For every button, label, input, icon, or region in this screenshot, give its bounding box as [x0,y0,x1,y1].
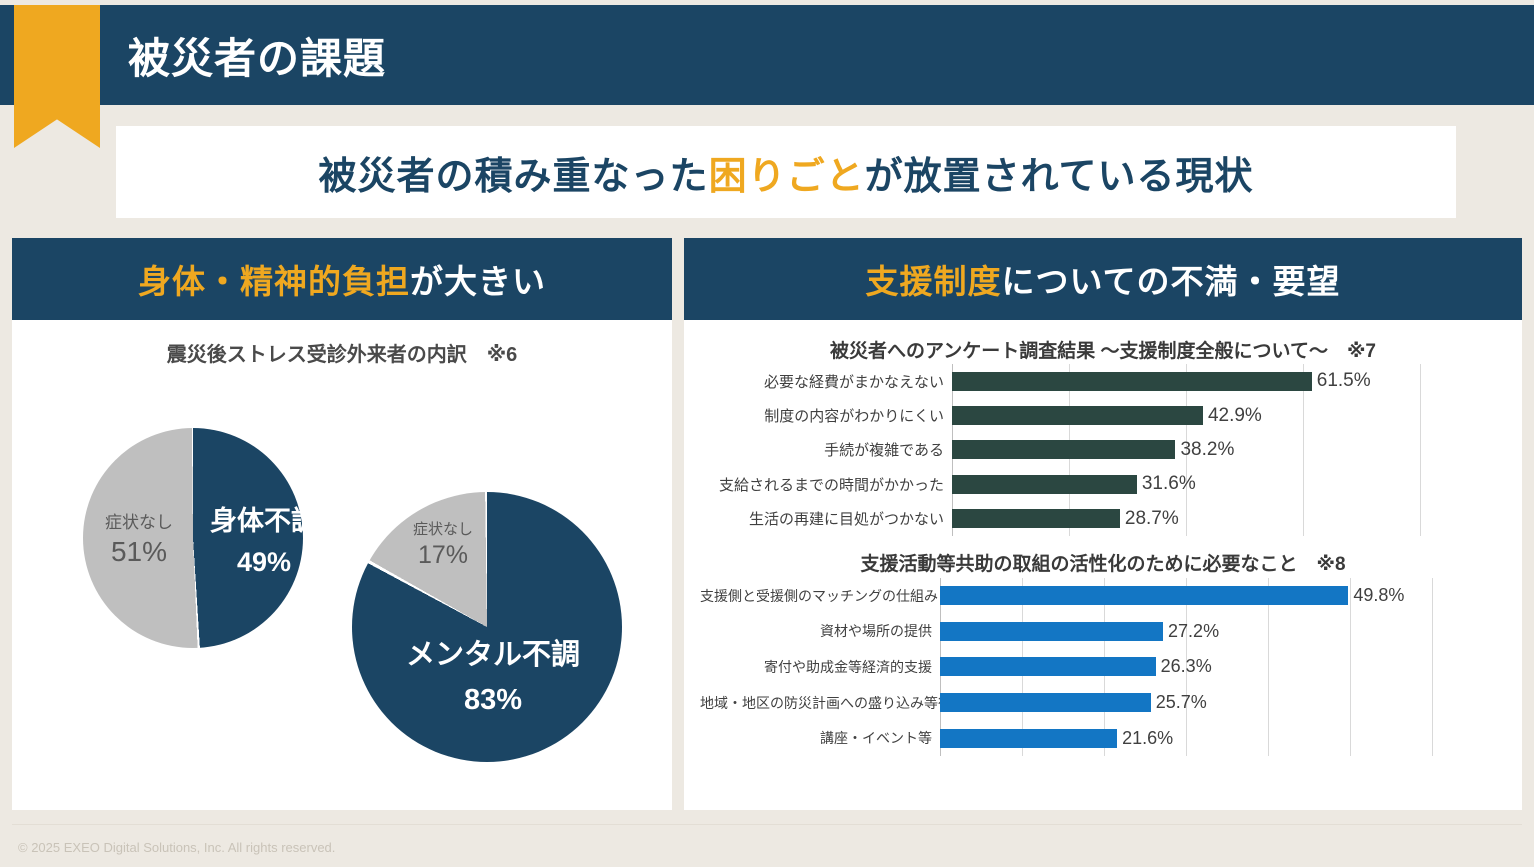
bar-value-label: 26.3% [1161,656,1212,677]
bar-category-label: 必要な経費がまかなえない [700,371,952,392]
bar-category-label: 制度の内容がわかりにくい [700,405,952,426]
bar-value-label: 28.7% [1125,508,1179,530]
bar-segment [952,509,1120,528]
pie-label-physical-none: 症状なし 51% [84,512,194,570]
bar-track: 27.2% [940,621,1510,642]
pie-slice-value: 17% [398,539,488,571]
bar-chart-kyojo-activation: 支援側と受援側のマッチングの仕組み49.8%資材や場所の提供27.2%寄付や助成… [700,578,1510,756]
bar-chart-support-system: 必要な経費がまかなえない61.5%制度の内容がわかりにくい42.9%手続が複雑で… [700,364,1510,536]
panel-left-rest: が大きい [410,263,546,300]
bar-row: 資材や場所の提供27.2% [700,614,1510,650]
bar-segment [952,475,1137,494]
bar-category-label: 講座・イベント等 [700,728,940,748]
footer-copyright: © 2025 EXEO Digital Solutions, Inc. All … [18,840,335,855]
bar-track: 26.3% [940,656,1510,677]
pie-slice-name: メンタル不調 [368,637,618,674]
bar-value-label: 49.8% [1353,585,1404,606]
bar-row: 支援側と受援側のマッチングの仕組み49.8% [700,578,1510,614]
bar-row: 支給されるまでの時間がかかった31.6% [700,467,1510,501]
bar-track: 25.7% [940,692,1510,713]
bar-category-label: 手続が複雑である [700,439,952,460]
bar-value-label: 42.9% [1208,405,1262,427]
pie-label-physical-symptom: 身体不調 49% [198,504,330,579]
bar-row: 生活の再建に目処がつかない28.7% [700,502,1510,536]
pie-slice-value: 51% [84,534,194,570]
panel-header-right-text: 支援制度についての不満・要望 [865,255,1340,303]
pie-label-mental-none: 症状なし 17% [398,520,488,571]
subtitle-part1: 被災者の積み重なった [319,156,709,198]
bar-track: 61.5% [952,370,1510,392]
subtitle-text: 被災者の積み重なった困りごとが放置されている現状 [319,145,1254,200]
bar-track: 28.7% [952,508,1510,530]
bar-category-label: 寄付や助成金等経済的支援 [700,657,940,677]
bar-segment [940,729,1117,748]
pie-slice-value: 49% [198,545,330,580]
bar-value-label: 61.5% [1317,370,1371,392]
panel-right-highlight: 支援制度 [865,263,1001,300]
bar-value-label: 25.7% [1156,692,1207,713]
bar-track: 21.6% [940,728,1510,749]
bar-segment [940,622,1163,641]
ribbon-banner-icon [14,5,100,148]
bar-value-label: 31.6% [1142,473,1196,495]
bar-category-label: 生活の再建に目処がつかない [700,508,952,529]
bar-row: 制度の内容がわかりにくい42.9% [700,398,1510,432]
subtitle-part2: が放置されている現状 [865,156,1254,198]
slide-root: 被災者の課題 被災者の積み重なった困りごとが放置されている現状 身体・精神的負担… [0,0,1534,867]
footer-divider [12,824,1522,825]
bar-category-label: 資材や場所の提供 [700,621,940,641]
bar-category-label: 地域・地区の防災計画への盛り込み等行政等の受け入れ体制強化 [700,693,940,713]
panel-right-rest: についての不満・要望 [1001,263,1340,300]
bar-track: 42.9% [952,405,1510,427]
bar-chart-2-title: 支援活動等共助の取組の活性化のために必要なこと ※8 [684,549,1522,576]
pie-slice-name: 症状なし [398,520,488,539]
subtitle-box: 被災者の積み重なった困りごとが放置されている現状 [116,126,1456,218]
bar-row: 手続が複雑である38.2% [700,433,1510,467]
bar-value-label: 38.2% [1180,439,1234,461]
bar-value-label: 27.2% [1168,621,1219,642]
bar-row: 必要な経費がまかなえない61.5% [700,364,1510,398]
panel-left-highlight: 身体・精神的負担 [138,263,410,300]
bar-segment [952,372,1312,391]
bar-segment [952,406,1203,425]
bar-segment [940,586,1348,605]
pie-chart-title: 震災後ストレス受診外来者の内訳 ※6 [12,338,672,367]
bar-track: 38.2% [952,439,1510,461]
pie-label-mental-symptom: メンタル不調 83% [368,637,618,719]
bar-segment [940,693,1151,712]
bar-track: 31.6% [952,473,1510,495]
panel-header-left: 身体・精神的負担が大きい [12,238,672,320]
pie-slice-value: 83% [368,682,618,719]
page-title: 被災者の課題 [128,5,386,105]
bar-track: 49.8% [940,585,1510,606]
bar-category-label: 支給されるまでの時間がかかった [700,474,952,495]
pie-slice-name: 身体不調 [198,504,330,539]
bar-chart-1-title: 被災者へのアンケート調査結果 ～支援制度全般について～ ※7 [684,336,1522,363]
bar-row: 寄付や助成金等経済的支援26.3% [700,649,1510,685]
subtitle-highlight: 困りごと [709,156,865,198]
bar-segment [952,440,1175,459]
bar-row: 地域・地区の防災計画への盛り込み等行政等の受け入れ体制強化25.7% [700,685,1510,721]
panel-header-right: 支援制度についての不満・要望 [684,238,1522,320]
bar-value-label: 21.6% [1122,728,1173,749]
pie-slice-name: 症状なし [84,512,194,534]
bar-category-label: 支援側と受援側のマッチングの仕組み [700,586,940,606]
bar-segment [940,657,1156,676]
panel-header-left-text: 身体・精神的負担が大きい [138,255,546,303]
bar-row: 講座・イベント等21.6% [700,720,1510,756]
